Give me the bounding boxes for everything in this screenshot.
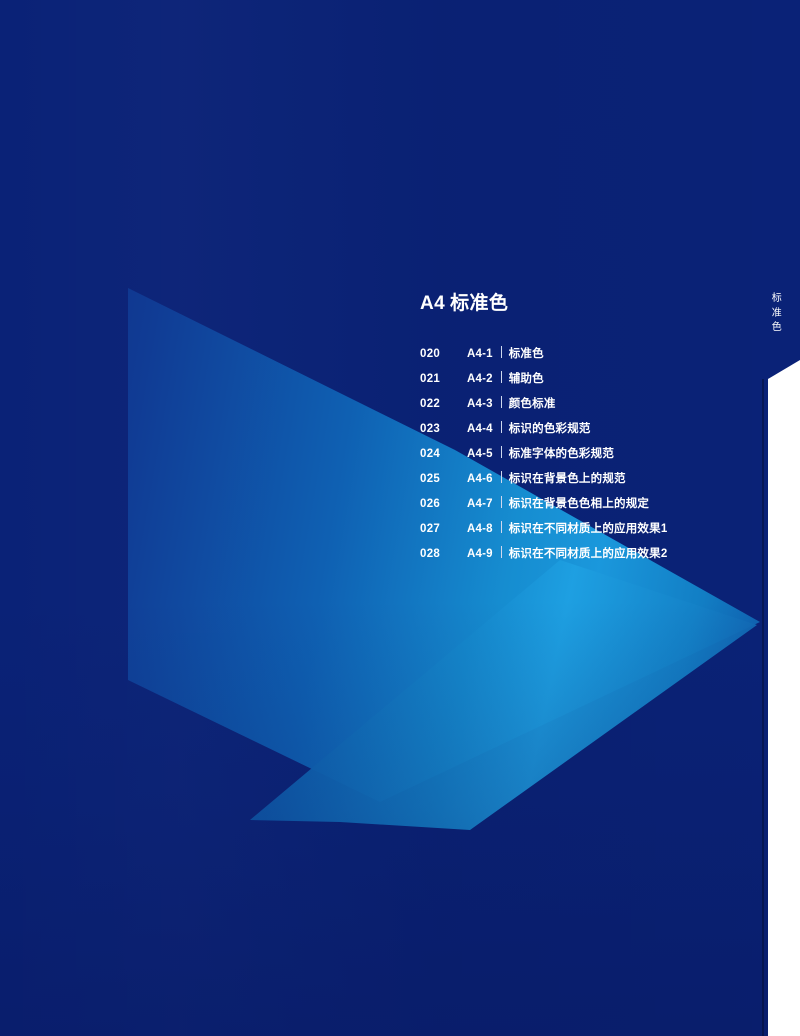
toc-item[interactable]: 028A4-9标识在不同材质上的应用效果2: [420, 545, 750, 570]
brand-guideline-divider-page: A4标准色 020A4-1标准色021A4-2辅助色022A4-3颜色标准023…: [0, 0, 800, 1036]
side-tab-char: 色: [769, 321, 785, 336]
table-of-contents: 020A4-1标准色021A4-2辅助色022A4-3颜色标准023A4-4标识…: [420, 345, 750, 570]
toc-item-number: 024: [420, 448, 467, 460]
toc-item-label: 颜色标准: [509, 395, 556, 411]
toc-item[interactable]: 027A4-8标识在不同材质上的应用效果1: [420, 520, 750, 545]
toc-item-separator: [501, 521, 502, 533]
toc-item-code: A4-8: [467, 523, 493, 535]
side-tab-vertical-label: 标准色: [769, 292, 785, 336]
page-title-code: A4: [420, 293, 445, 314]
toc-item-code: A4-5: [467, 448, 493, 460]
toc-item-number: 022: [420, 398, 467, 410]
toc-item-label: 标识在背景色上的规范: [509, 470, 626, 486]
toc-item-number: 025: [420, 473, 467, 485]
toc-item[interactable]: 024A4-5标准字体的色彩规范: [420, 445, 750, 470]
toc-item[interactable]: 021A4-2辅助色: [420, 370, 750, 395]
toc-item-label: 辅助色: [509, 370, 544, 386]
toc-item-number: 026: [420, 498, 467, 510]
toc-item-label: 标识在背景色色相上的规定: [509, 495, 649, 511]
toc-item-separator: [501, 471, 502, 483]
side-tab-char: 标: [769, 292, 785, 307]
toc-item-code: A4-3: [467, 398, 493, 410]
toc-item-label: 标识的色彩规范: [509, 420, 591, 436]
toc-item-separator: [501, 371, 502, 383]
toc-item-label: 标识在不同材质上的应用效果2: [509, 545, 668, 561]
side-tab-char: 准: [769, 307, 785, 322]
toc-item-separator: [501, 346, 502, 358]
toc-item[interactable]: 022A4-3颜色标准: [420, 395, 750, 420]
toc-item-code: A4-2: [467, 373, 493, 385]
toc-item[interactable]: 025A4-6标识在背景色上的规范: [420, 470, 750, 495]
toc-item[interactable]: 020A4-1标准色: [420, 345, 750, 370]
toc-item-separator: [501, 421, 502, 433]
toc-item-separator: [501, 446, 502, 458]
toc-item-separator: [501, 546, 502, 558]
toc-item-code: A4-9: [467, 548, 493, 560]
toc-item-number: 027: [420, 523, 467, 535]
toc-item-label: 标准色: [509, 345, 544, 361]
toc-item-label: 标识在不同材质上的应用效果1: [509, 520, 668, 536]
toc-item-code: A4-1: [467, 348, 493, 360]
toc-item-code: A4-4: [467, 423, 493, 435]
page-content: A4标准色 020A4-1标准色021A4-2辅助色022A4-3颜色标准023…: [420, 288, 750, 570]
toc-item-number: 023: [420, 423, 467, 435]
toc-item-code: A4-6: [467, 473, 493, 485]
page-title-text: 标准色: [450, 293, 508, 314]
toc-item-code: A4-7: [467, 498, 493, 510]
toc-item-separator: [501, 496, 502, 508]
toc-item-separator: [501, 396, 502, 408]
page-title: A4标准色: [420, 288, 750, 315]
toc-item[interactable]: 023A4-4标识的色彩规范: [420, 420, 750, 445]
toc-item-number: 021: [420, 373, 467, 385]
toc-item-number: 028: [420, 548, 467, 560]
toc-item-number: 020: [420, 348, 467, 360]
toc-item[interactable]: 026A4-7标识在背景色色相上的规定: [420, 495, 750, 520]
toc-item-label: 标准字体的色彩规范: [509, 445, 614, 461]
panel-right-edge-line: [762, 379, 764, 1036]
